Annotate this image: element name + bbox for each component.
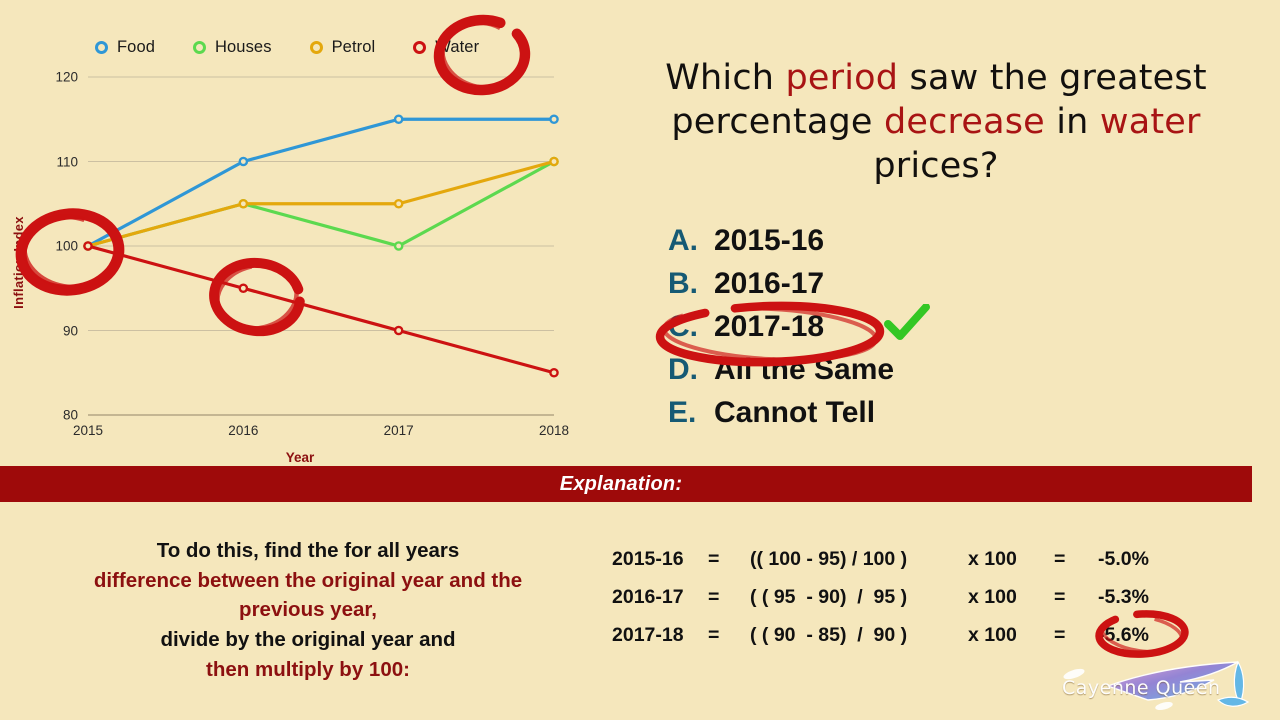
calc-expression: ( ( 95 - 90) / 95 ) bbox=[750, 586, 968, 609]
calc-equals-2: = bbox=[1054, 586, 1098, 609]
brand-logo: Cayenne Queen bbox=[1052, 660, 1272, 718]
chart-plot-area bbox=[0, 0, 600, 470]
answer-options-list: A.2015-16B.2016-17C.2017-18D.All the Sam… bbox=[668, 224, 1228, 439]
answer-option-text: 2017-18 bbox=[714, 310, 824, 344]
calc-equals: = bbox=[708, 586, 750, 609]
data-point-food-2017 bbox=[395, 116, 402, 123]
question-l1-pre: Which bbox=[665, 58, 785, 98]
y-tick-80: 80 bbox=[38, 408, 78, 423]
inflation-line-chart: Food Houses Petrol Water 8090100110120 2… bbox=[0, 0, 600, 470]
question-l2-highlight-water: water bbox=[1100, 102, 1201, 142]
calc-multiplier: x 100 bbox=[968, 624, 1054, 647]
chart-x-axis-title: Year bbox=[0, 450, 600, 465]
answer-option-letter: E. bbox=[668, 396, 714, 430]
calc-multiplier: x 100 bbox=[968, 586, 1054, 609]
calc-equals-2: = bbox=[1054, 548, 1098, 571]
chart-gridlines bbox=[88, 77, 554, 415]
question-l2-highlight-decrease: decrease bbox=[884, 102, 1045, 142]
answer-option-text: 2016-17 bbox=[714, 267, 824, 301]
question-text: Which period saw the greatest percentage… bbox=[606, 56, 1266, 188]
calc-equals: = bbox=[708, 548, 750, 571]
calc-result: -5.3% bbox=[1098, 586, 1184, 609]
x-tick-2017: 2017 bbox=[384, 423, 414, 438]
y-tick-120: 120 bbox=[38, 70, 78, 85]
series-line-petrol bbox=[88, 162, 554, 247]
data-point-houses-2017 bbox=[395, 242, 402, 249]
method-line-4: divide by the original year and bbox=[28, 625, 588, 655]
calc-multiplier: x 100 bbox=[968, 548, 1054, 571]
calculation-row: 2016-17=( ( 95 - 90) / 95 )x 100=-5.3% bbox=[612, 578, 1184, 616]
y-tick-100: 100 bbox=[38, 239, 78, 254]
calc-equals-2: = bbox=[1054, 624, 1098, 647]
calc-result: -5.0% bbox=[1098, 548, 1184, 571]
logo-text: Cayenne Queen bbox=[1062, 677, 1221, 699]
answer-option-a[interactable]: A.2015-16 bbox=[668, 224, 1228, 267]
y-tick-110: 110 bbox=[38, 154, 78, 169]
question-line-1: Which period saw the greatest bbox=[606, 56, 1266, 100]
answer-option-letter: C. bbox=[668, 310, 714, 344]
method-line-2: difference between the original year and… bbox=[28, 566, 588, 596]
question-line-2: percentage decrease in water bbox=[606, 100, 1266, 144]
calculation-table: 2015-16=(( 100 - 95) / 100 )x 100=-5.0%2… bbox=[612, 540, 1184, 654]
series-line-water bbox=[88, 246, 554, 373]
calc-expression: (( 100 - 95) / 100 ) bbox=[750, 548, 968, 571]
data-point-water-2018 bbox=[550, 369, 557, 376]
question-l2-pre: percentage bbox=[671, 102, 884, 142]
chart-y-axis-title: Inflation Index bbox=[11, 216, 26, 309]
slide-root: Food Houses Petrol Water 8090100110120 2… bbox=[0, 0, 1280, 720]
explanation-banner: Explanation: bbox=[0, 466, 1252, 502]
answer-option-text: Cannot Tell bbox=[714, 396, 875, 430]
calc-equals: = bbox=[708, 624, 750, 647]
method-line-1: To do this, find the for all years bbox=[28, 536, 588, 566]
method-line-3: previous year, bbox=[28, 595, 588, 625]
answer-option-d[interactable]: D.All the Same bbox=[668, 353, 1228, 396]
calc-expression: ( ( 90 - 85) / 90 ) bbox=[750, 624, 968, 647]
answer-option-letter: D. bbox=[668, 353, 714, 387]
y-tick-90: 90 bbox=[38, 323, 78, 338]
data-point-water-2016 bbox=[240, 285, 247, 292]
answer-option-letter: B. bbox=[668, 267, 714, 301]
answer-option-text: 2015-16 bbox=[714, 224, 824, 258]
method-description: To do this, find the for all years diffe… bbox=[28, 536, 588, 685]
question-l1-post: saw the greatest bbox=[898, 58, 1207, 98]
x-tick-2016: 2016 bbox=[228, 423, 258, 438]
data-point-water-2015 bbox=[84, 242, 91, 249]
x-tick-2015: 2015 bbox=[73, 423, 103, 438]
question-l2-mid: in bbox=[1045, 102, 1100, 142]
data-point-water-2017 bbox=[395, 327, 402, 334]
calculation-row: 2017-18=( ( 90 - 85) / 90 )x 100=-5.6% bbox=[612, 616, 1184, 654]
calculation-row: 2015-16=(( 100 - 95) / 100 )x 100=-5.0% bbox=[612, 540, 1184, 578]
question-line-3: prices? bbox=[606, 144, 1266, 188]
answer-option-letter: A. bbox=[668, 224, 714, 258]
data-point-petrol-2017 bbox=[395, 200, 402, 207]
calc-period: 2017-18 bbox=[612, 624, 708, 647]
data-point-food-2016 bbox=[240, 158, 247, 165]
data-point-petrol-2016 bbox=[240, 200, 247, 207]
answer-option-e[interactable]: E.Cannot Tell bbox=[668, 396, 1228, 439]
explanation-banner-label: Explanation: bbox=[560, 473, 682, 496]
answer-option-b[interactable]: B.2016-17 bbox=[668, 267, 1228, 310]
method-line-5: then multiply by 100: bbox=[28, 655, 588, 685]
calc-result: -5.6% bbox=[1098, 624, 1184, 647]
calc-period: 2016-17 bbox=[612, 586, 708, 609]
answer-option-c[interactable]: C.2017-18 bbox=[668, 310, 1228, 353]
question-l1-highlight: period bbox=[786, 58, 899, 98]
data-point-food-2018 bbox=[550, 116, 557, 123]
calc-period: 2015-16 bbox=[612, 548, 708, 571]
x-tick-2018: 2018 bbox=[539, 423, 569, 438]
data-point-petrol-2018 bbox=[550, 158, 557, 165]
answer-option-text: All the Same bbox=[714, 353, 894, 387]
